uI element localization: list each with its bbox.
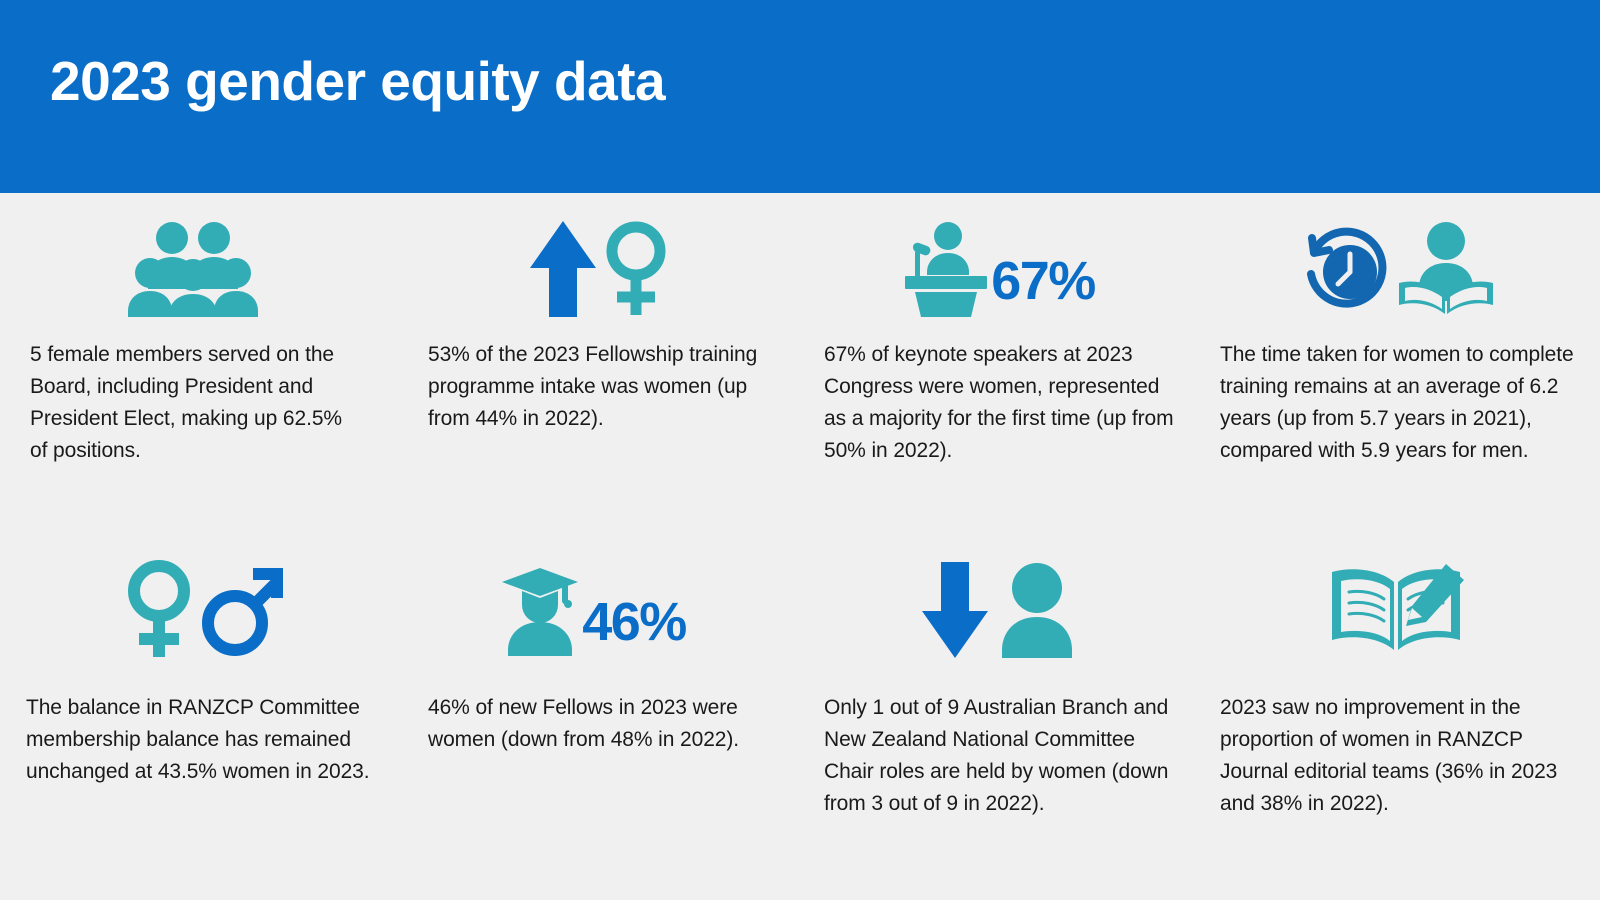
stat-card-training-completion-time: The time taken for women to complete tra… [1200,193,1600,538]
podium-speaker-icon [903,221,989,317]
stat-card-committee-membership-balance: The balance in RANZCP Committee membersh… [0,538,400,900]
stat-card-committee-chair-roles: Only 1 out of 9 Australian Branch and Ne… [800,538,1200,900]
icon-group [26,538,382,668]
card-text: 46% of new Fellows in 2023 were women (d… [428,692,758,756]
female-gender-icon [121,560,197,660]
card-text: 53% of the 2023 Fellowship training prog… [428,339,774,435]
stats-grid: 5 female members served on the Board, in… [0,193,1600,900]
open-book-pencil-icon [1328,562,1468,658]
card-text: The time taken for women to complete tra… [1220,339,1574,467]
stat-card-new-fellows: 46% 46% of new Fellows in 2023 were wome… [400,538,800,900]
stat-card-board-members: 5 female members served on the Board, in… [0,193,400,538]
stat-value: 46% [582,595,686,649]
person-reading-book-icon [1398,221,1494,317]
stat-card-journal-editorial-teams: 2023 saw no improvement in the proportio… [1200,538,1600,900]
group-of-people-icon [128,221,258,317]
icon-group: 67% [824,193,1174,323]
icon-group [1220,193,1574,323]
card-text: Only 1 out of 9 Australian Branch and Ne… [824,692,1180,820]
clock-history-icon [1300,222,1394,316]
card-text: 2023 saw no improvement in the proportio… [1220,692,1576,820]
card-text: 5 female members served on the Board, in… [30,339,356,467]
stat-value: 67% [991,254,1095,308]
card-text: 67% of keynote speakers at 2023 Congress… [824,339,1174,467]
female-gender-icon [600,221,672,317]
icon-group [30,193,356,323]
icon-group: 46% [428,538,758,668]
page-title: 2023 gender equity data [50,46,665,116]
header-banner: 2023 gender equity data [0,0,1600,193]
stat-card-fellowship-training-intake: 53% of the 2023 Fellowship training prog… [400,193,800,538]
infographic-page: 2023 gender equity data [0,0,1600,900]
male-gender-icon [201,560,287,660]
arrow-up-icon [530,221,596,317]
person-icon [992,562,1082,658]
graduate-person-icon [500,564,580,656]
arrow-down-icon [922,562,988,658]
card-text: The balance in RANZCP Committee membersh… [26,692,382,788]
icon-group [1220,538,1576,668]
icon-group [428,193,774,323]
icon-group [824,538,1180,668]
stat-card-keynote-speakers: 67% 67% of keynote speakers at 2023 Cong… [800,193,1200,538]
